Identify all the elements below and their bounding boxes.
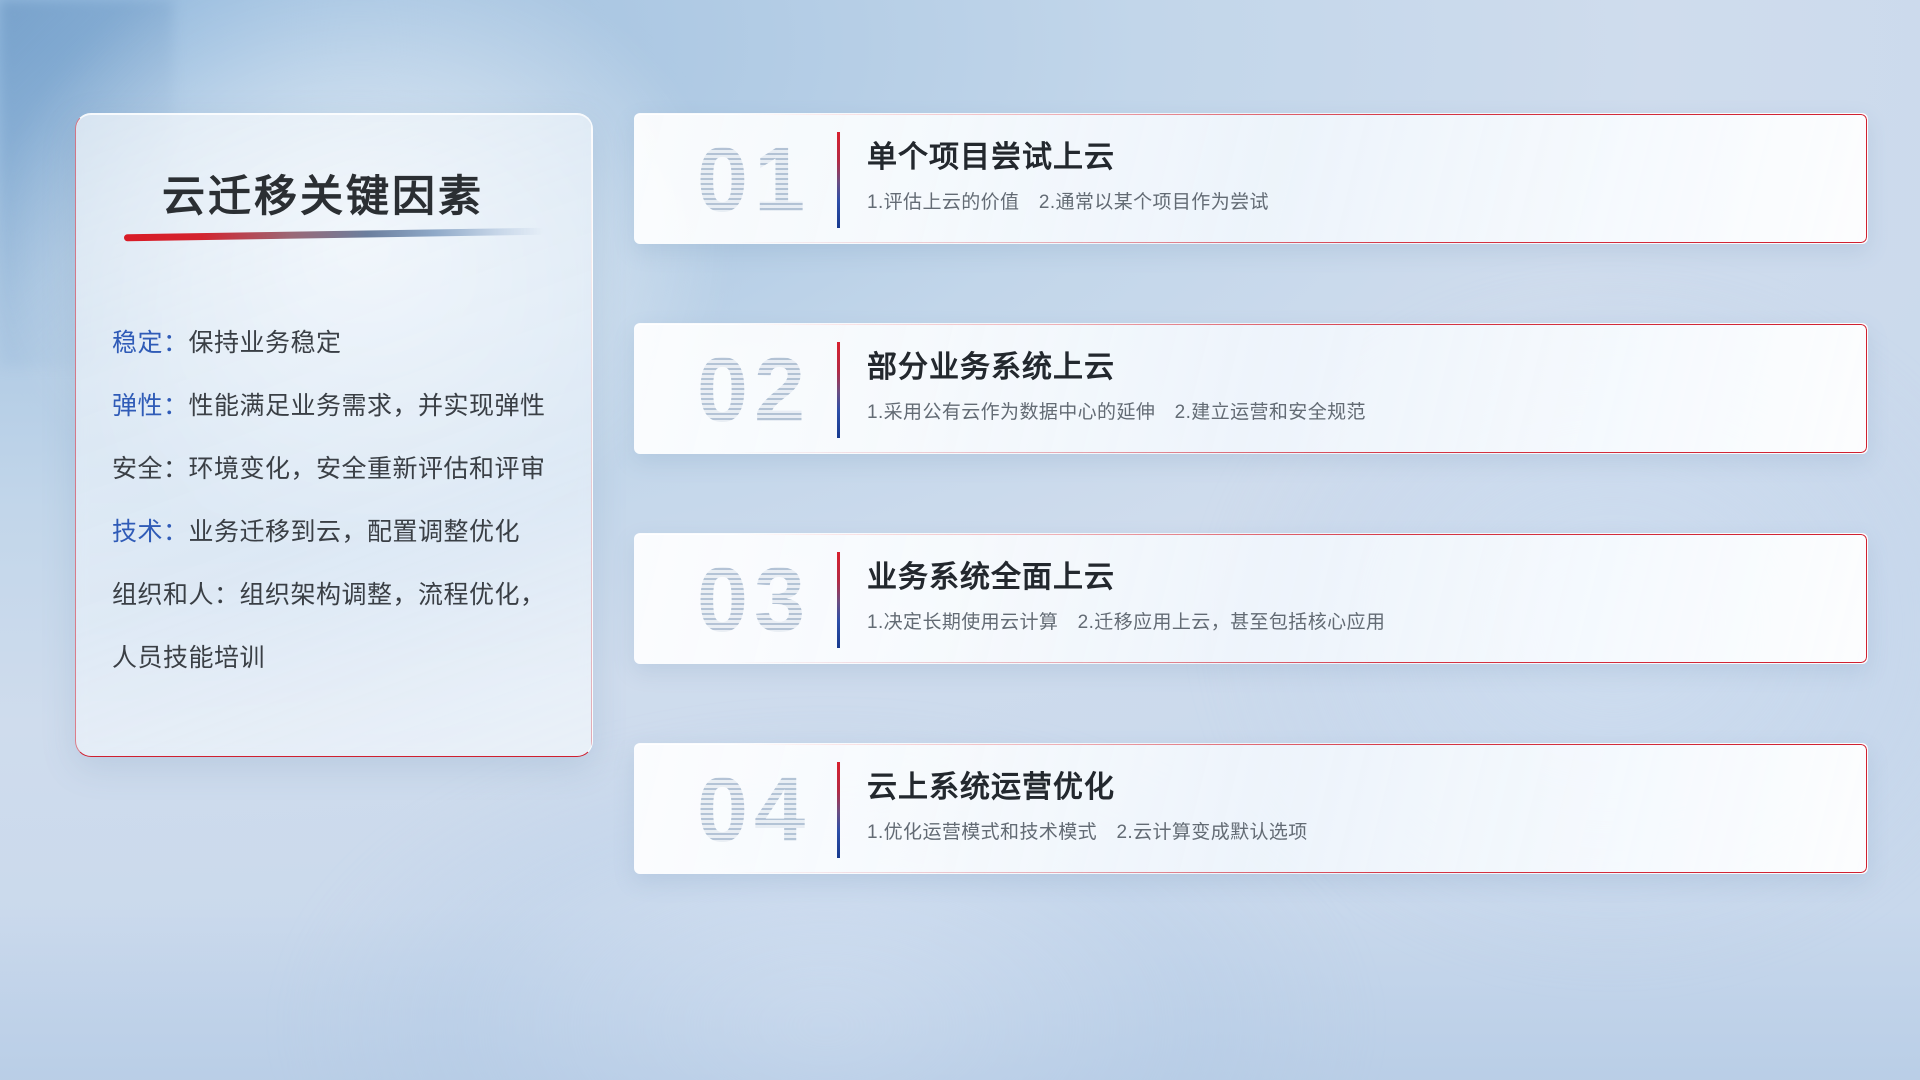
factor-label: 弹性： [112, 392, 189, 420]
factor-item: 组织和人：组织架构调整，流程优化， [112, 564, 582, 627]
stage-card[interactable]: 0404云上系统运营优化1.优化运营模式和技术模式 2.云计算变成默认选项 [634, 743, 1868, 874]
title-underline-gradient [124, 228, 544, 242]
stage-title: 业务系统全面上云 [867, 552, 1115, 596]
stage-number: 01 [666, 118, 842, 242]
factor-item: 安全：环境变化，安全重新评估和评审 [112, 438, 582, 501]
stage-card[interactable]: 0202部分业务系统上云1.采用公有云作为数据中心的延伸 2.建立运营和安全规范 [634, 323, 1868, 454]
factor-text: 组织架构调整，流程优化， [240, 581, 546, 609]
stage-subtitle: 1.决定长期使用云计算 2.迁移应用上云，甚至包括核心应用 [867, 607, 1385, 634]
factor-item: 技术：业务迁移到云，配置调整优化 [112, 501, 582, 564]
stage-divider-bar [837, 342, 840, 438]
stage-number: 03 [666, 538, 842, 662]
stage-title: 云上系统运营优化 [867, 762, 1115, 806]
stage-subtitle: 1.采用公有云作为数据中心的延伸 2.建立运营和安全规范 [867, 397, 1366, 424]
stage-subtitle: 1.评估上云的价值 2.通常以某个项目作为尝试 [867, 187, 1269, 214]
stage-title: 单个项目尝试上云 [867, 132, 1115, 176]
stage-divider-bar [837, 762, 840, 858]
factor-list: 稳定：保持业务稳定弹性：性能满足业务需求，并实现弹性安全：环境变化，安全重新评估… [112, 312, 582, 690]
stage-number: 04 [666, 748, 842, 872]
stage-card[interactable]: 0101单个项目尝试上云1.评估上云的价值 2.通常以某个项目作为尝试 [634, 113, 1868, 244]
factor-label: 稳定： [112, 329, 189, 357]
factor-text: 环境变化，安全重新评估和评审 [189, 455, 546, 483]
factor-label: 技术： [112, 518, 189, 546]
stage-card[interactable]: 0303业务系统全面上云1.决定长期使用云计算 2.迁移应用上云，甚至包括核心应… [634, 533, 1868, 664]
factor-text: 保持业务稳定 [189, 329, 342, 357]
stage-number: 02 [666, 328, 842, 452]
factor-label: 安全： [112, 455, 189, 483]
stage-subtitle: 1.优化运营模式和技术模式 2.云计算变成默认选项 [867, 817, 1308, 844]
stage-divider-bar [837, 552, 840, 648]
stage-divider-bar [837, 132, 840, 228]
factor-text: 性能满足业务需求，并实现弹性 [189, 392, 546, 420]
stage-title: 部分业务系统上云 [867, 342, 1115, 386]
page-title: 云迁移关键因素 [162, 162, 484, 224]
factor-item: 稳定：保持业务稳定 [112, 312, 582, 375]
stage-card-list: 0101单个项目尝试上云1.评估上云的价值 2.通常以某个项目作为尝试0202部… [634, 113, 1868, 953]
factor-item: 弹性：性能满足业务需求，并实现弹性 [112, 375, 582, 438]
factor-text: 人员技能培训 [112, 644, 265, 672]
factor-label: 组织和人： [112, 581, 240, 609]
factor-item: 人员技能培训 [112, 627, 582, 690]
factor-text: 业务迁移到云，配置调整优化 [189, 518, 521, 546]
key-factors-panel: 云迁移关键因素 稳定：保持业务稳定弹性：性能满足业务需求，并实现弹性安全：环境变… [75, 113, 593, 757]
